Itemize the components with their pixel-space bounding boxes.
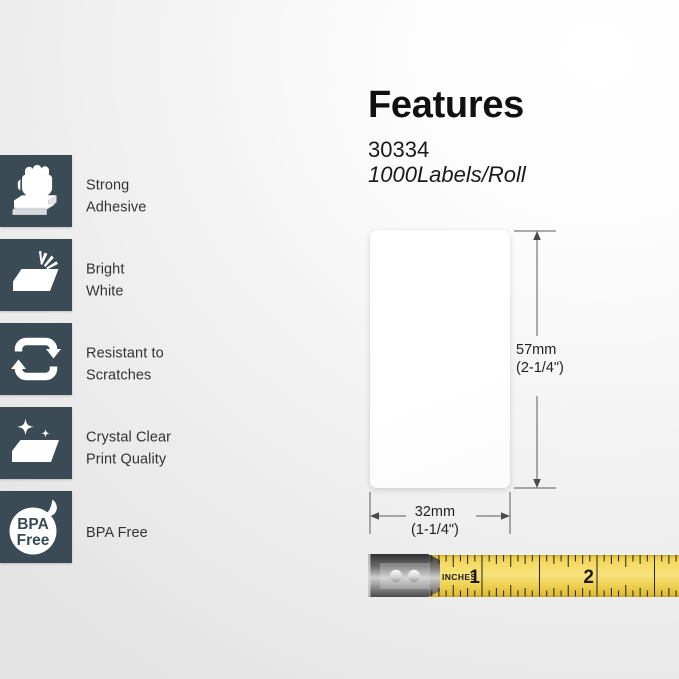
tape-mark-2: 2 [583,567,594,588]
product-feature-graphic: Features 30334 1000Labels/Roll [0,0,679,679]
dimension-width-text: 32mm (1-1/4") [411,503,459,539]
tape-unit-label: INCHES [442,572,477,582]
dimension-height-text: 57mm (2-1/4") [516,341,564,377]
tape-measure: 1 2 INCHES [366,553,679,601]
